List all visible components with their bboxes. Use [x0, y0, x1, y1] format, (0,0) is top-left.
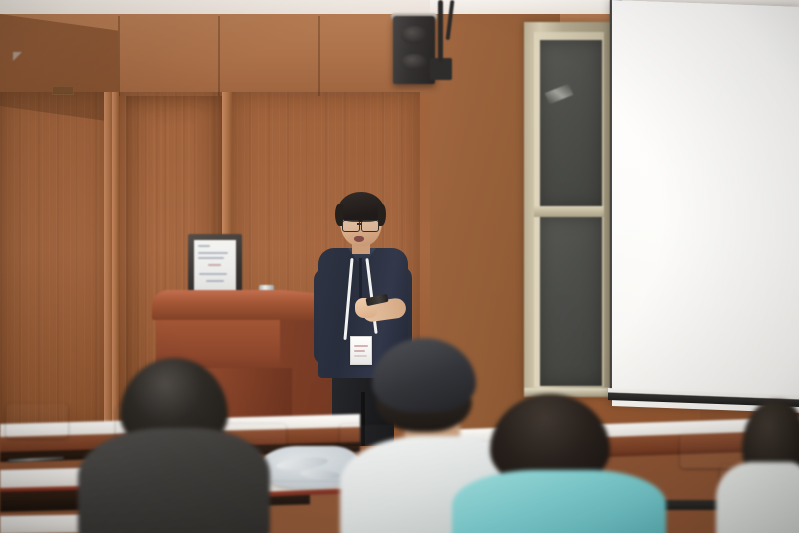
monitor-text-line	[208, 264, 221, 266]
conference-name-badge	[350, 336, 372, 365]
audience-member-right-body	[716, 462, 799, 533]
monitor-text-line	[198, 252, 228, 254]
eyeglasses-bridge	[357, 223, 362, 225]
monitor-text-line	[198, 257, 224, 259]
eyeglasses-right-lens	[361, 220, 379, 232]
wall-panel-seam	[218, 16, 220, 96]
badge-text-line	[354, 345, 368, 347]
chair-back-row-1[interactable]	[680, 434, 750, 468]
wall-panel-seam	[318, 16, 320, 96]
lecture-hall-photo	[0, 0, 799, 533]
loudspeaker-icon	[393, 16, 435, 84]
chair-back-row-1[interactable]	[6, 404, 68, 438]
door-edge-middle	[112, 92, 119, 428]
speaker-cable	[438, 0, 443, 62]
monitor-text-line	[206, 280, 224, 282]
audience-member-teal-body	[452, 470, 666, 533]
badge-text-line	[354, 355, 367, 357]
paneled-door-left[interactable]	[0, 92, 110, 432]
podium-monitor-screen[interactable]	[194, 240, 236, 296]
audience-member-front-left-body	[78, 428, 270, 533]
speaker-cone-upper	[401, 26, 427, 44]
presenter-zip-placket	[359, 258, 362, 298]
chalkboard-panel-lower[interactable]	[540, 216, 602, 386]
badge-text-line	[354, 350, 365, 352]
projection-screen	[612, 0, 799, 413]
presenter-mouth	[354, 236, 364, 242]
chalkboard-panel-upper[interactable]	[540, 40, 602, 208]
room-number-plate	[52, 86, 74, 95]
eyeglasses-left-lens	[342, 220, 360, 232]
monitor-text-line	[198, 245, 210, 247]
chalkboard-rail	[534, 206, 604, 217]
presenter-hair-right	[378, 204, 386, 226]
wall-panel-seam	[118, 16, 120, 96]
speaker-cone-lower	[401, 54, 427, 70]
monitor-text-line	[199, 273, 227, 275]
